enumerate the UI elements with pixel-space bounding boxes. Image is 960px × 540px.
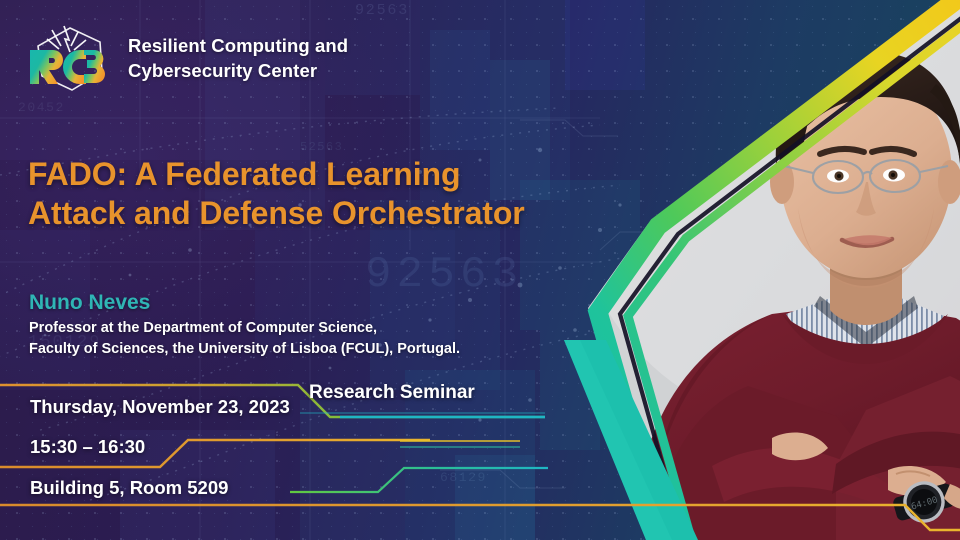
talk-title-line1: FADO: A Federated Learning	[28, 155, 608, 194]
event-date: Thursday, November 23, 2023	[30, 396, 290, 418]
rc3-logo	[26, 22, 112, 96]
organization-name: Resilient Computing and Cybersecurity Ce…	[128, 34, 348, 83]
event-time: 15:30 – 16:30	[30, 436, 145, 458]
speaker-affiliation: Professor at the Department of Computer …	[29, 318, 460, 361]
background-watermark: 92563	[365, 250, 523, 300]
event-type: Research Seminar	[309, 382, 475, 404]
frame-teal-diagonal	[520, 340, 820, 540]
speaker-name: Nuno Neves	[29, 291, 150, 315]
brand-header: Resilient Computing and Cybersecurity Ce…	[26, 22, 348, 96]
affiliation-line2: Faculty of Sciences, the University of L…	[29, 339, 460, 360]
talk-title-line2: Attack and Defense Orchestrator	[28, 194, 608, 233]
background-watermark: 52563	[300, 140, 343, 154]
rc3-hexagon-lightning-icon	[26, 22, 112, 96]
background-watermark: 68129	[440, 470, 487, 485]
event-location: Building 5, Room 5209	[30, 477, 228, 499]
talk-title: FADO: A Federated Learning Attack and De…	[28, 155, 608, 233]
org-name-line1: Resilient Computing and	[128, 34, 348, 59]
background-watermark: 20452	[18, 100, 65, 115]
seminar-poster: 92563 92563 20452 150129 68129 92563 989…	[0, 0, 960, 540]
org-name-line2: Cybersecurity Center	[128, 59, 348, 84]
background-watermark: 92563	[355, 2, 409, 19]
affiliation-line1: Professor at the Department of Computer …	[29, 318, 460, 339]
